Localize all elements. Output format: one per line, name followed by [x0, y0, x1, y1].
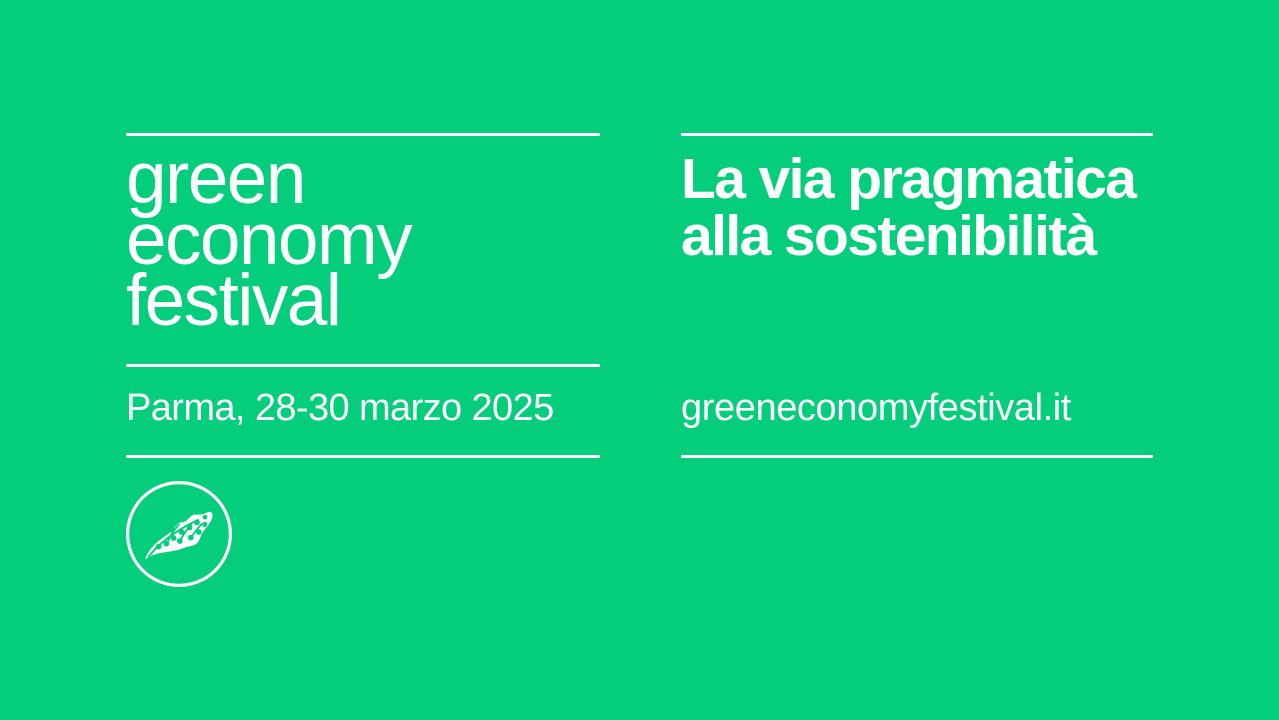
left-bottom-rule	[126, 455, 600, 458]
event-location-date: Parma, 28-30 marzo 2025	[126, 385, 600, 431]
left-column: green economy festival Parma, 28-30 marz…	[126, 0, 600, 720]
left-top-rule	[126, 133, 600, 136]
left-middle-rule	[126, 364, 600, 367]
right-bottom-rule	[681, 455, 1153, 458]
leaf-in-circle-logo-icon	[126, 481, 232, 587]
right-top-rule	[681, 133, 1153, 136]
festival-title: green economy festival	[126, 148, 600, 331]
poster-canvas: green economy festival Parma, 28-30 marz…	[0, 0, 1279, 720]
tagline: La via pragmatica alla sostenibilità	[681, 151, 1153, 265]
tagline-line-1: La via pragmatica	[681, 151, 1153, 208]
right-column: La via pragmatica alla sostenibilità gre…	[681, 0, 1153, 720]
website-url[interactable]: greeneconomyfestival.it	[681, 385, 1153, 431]
tagline-line-2: alla sostenibilità	[681, 208, 1153, 265]
